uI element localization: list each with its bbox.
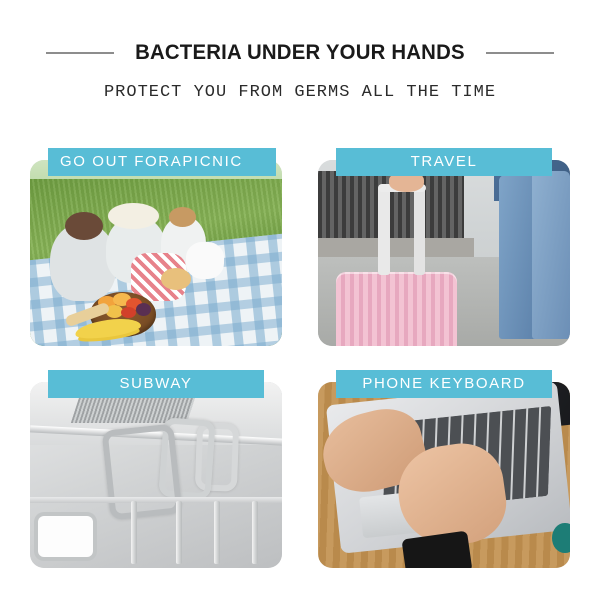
suitcase-handle-left: [378, 186, 389, 275]
scenario-card-keyboard[interactable]: PHONE KEYBOARD: [318, 370, 570, 568]
title-rule-right: [486, 52, 554, 54]
page-title: BACTERIA UNDER YOUR HANDS: [135, 40, 465, 66]
grab-pole-2: [176, 501, 182, 564]
travel-photo: [318, 160, 570, 346]
scenario-card-subway[interactable]: SUBWAY: [30, 370, 282, 568]
title-row: BACTERIA UNDER YOUR HANDS: [0, 40, 600, 66]
suitcase-handle-right: [414, 186, 425, 275]
subway-illustration: [30, 382, 282, 568]
page-subtitle: PROTECT YOU FROM GERMS ALL THE TIME: [0, 83, 600, 102]
grab-pole-1: [131, 501, 137, 564]
keyboard-photo: [318, 382, 570, 568]
scenario-card-picnic[interactable]: GO OUT FORAPICNIC: [30, 148, 282, 346]
fence-base: [318, 238, 474, 257]
fruit-apple-2: [121, 307, 136, 318]
person-father-head: [65, 212, 103, 240]
travel-illustration: [318, 160, 570, 346]
card-banner-keyboard: PHONE KEYBOARD: [336, 370, 552, 398]
subway-window: [38, 516, 93, 557]
card-banner-subway: SUBWAY: [48, 370, 264, 398]
person-baby: [186, 242, 224, 279]
card-label: PHONE KEYBOARD: [362, 370, 525, 398]
poster-page: BACTERIA UNDER YOUR HANDS PROTECT YOU FR…: [0, 0, 600, 600]
card-label: SUBWAY: [120, 370, 193, 398]
subway-photo: [30, 382, 282, 568]
sun-hat: [108, 203, 158, 229]
teal-object: [552, 523, 570, 553]
header: BACTERIA UNDER YOUR HANDS PROTECT YOU FR…: [0, 0, 600, 130]
grab-pole-4: [252, 501, 258, 564]
picnic-illustration: [30, 160, 282, 346]
window-line: [30, 497, 282, 503]
scenario-grid: GO OUT FORAPICNIC: [30, 148, 570, 568]
keyboard-illustration: [318, 382, 570, 568]
title-rule-left: [46, 52, 114, 54]
person-child-one-head: [169, 207, 197, 227]
scenario-card-travel[interactable]: TRAVEL: [318, 148, 570, 346]
card-banner-picnic: GO OUT FORAPICNIC: [48, 148, 276, 176]
picnic-photo: [30, 160, 282, 346]
card-banner-travel: TRAVEL: [336, 148, 552, 176]
pink-suitcase: [336, 272, 457, 346]
grab-pole-3: [214, 501, 220, 564]
card-label: TRAVEL: [411, 148, 478, 176]
card-label: GO OUT FORAPICNIC: [60, 148, 243, 176]
jeans-leg-right: [532, 171, 570, 338]
hanging-handle-1: [101, 423, 182, 520]
